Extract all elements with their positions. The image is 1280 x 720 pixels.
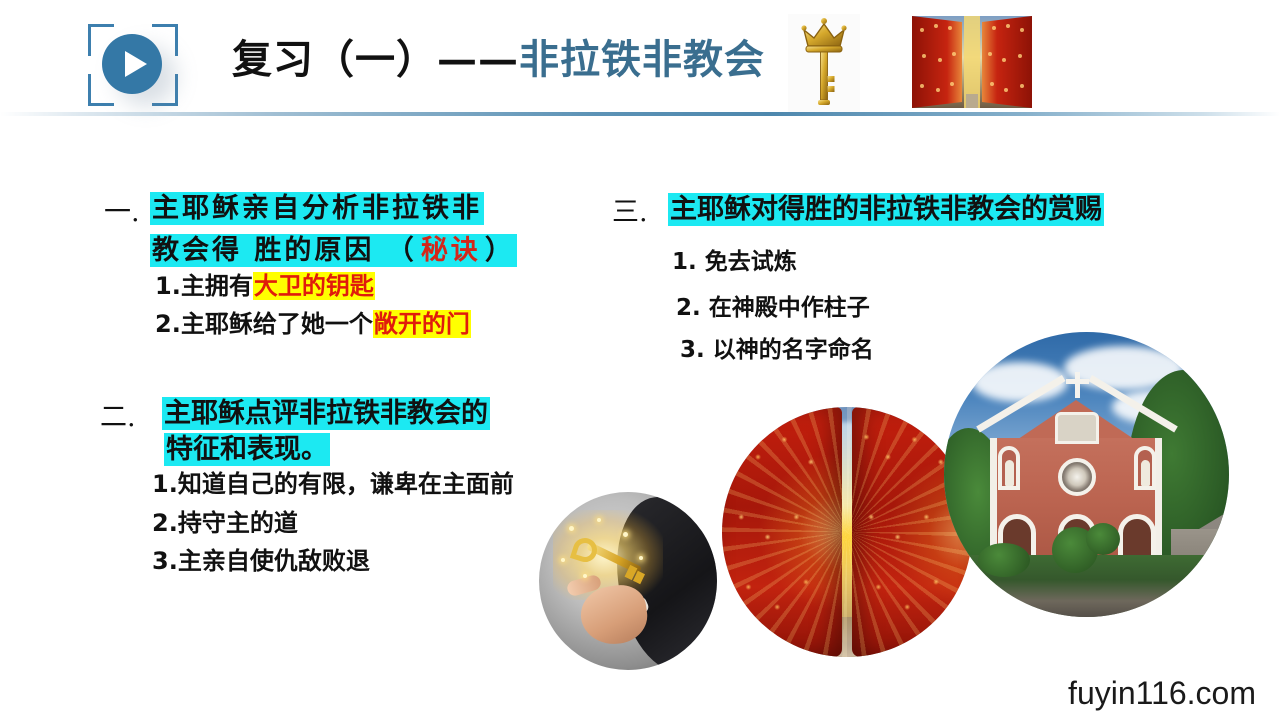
- bush-shape: [978, 543, 1030, 577]
- section-2-item-1-number: 1.: [152, 470, 178, 498]
- sparkle-icon: [569, 526, 574, 531]
- statue-niche-left: [998, 446, 1020, 490]
- logo-frame: [88, 24, 178, 106]
- hand-holding-golden-key-photo: [539, 492, 717, 670]
- section-2-item-1-text: 知道自己的有限，谦卑在主面前: [178, 470, 514, 498]
- frame-edge-left-lower: [88, 74, 91, 88]
- page-title-main: 复习（一）——: [232, 36, 519, 83]
- slide-canvas: 复习（一）——非拉铁非教会: [0, 0, 1280, 720]
- section-1-item-1-text: 主拥有: [181, 272, 253, 300]
- sparkle-icon: [561, 558, 565, 562]
- section-3-item-2: 2. 在神殿中作柱子: [676, 288, 870, 322]
- section-1-item-1-highlight: 大卫的钥匙: [253, 272, 375, 300]
- brick-church-building-photo: [944, 332, 1229, 617]
- page-title: 复习（一）——非拉铁非教会: [232, 38, 765, 82]
- section-3-item-1-text: 免去试炼: [705, 249, 797, 275]
- slide-header: 复习（一）——非拉铁非教会: [0, 0, 1280, 118]
- site-watermark: fuyin116.com: [1068, 675, 1256, 712]
- section-2-item-2-number: 2.: [152, 509, 178, 537]
- section-3-item-3: 3. 以神的名字命名: [680, 330, 874, 364]
- section-1-item-1-number: 1.: [155, 272, 181, 300]
- statue-shape: [1141, 460, 1150, 486]
- frame-edge-left-upper: [88, 42, 91, 56]
- section-2-number: 二.: [100, 395, 136, 434]
- light-rays-overlay: [722, 407, 972, 657]
- section-1-heading-line2: 教会得 胜的原因 （秘诀）: [150, 228, 517, 267]
- section-2-heading-text1: 主耶稣点评非拉铁非教会的: [162, 397, 490, 430]
- section-2-heading-line2: 特征和表现。: [164, 427, 330, 466]
- bush-shape: [1086, 523, 1120, 555]
- frame-corner-bottom-left: [88, 84, 114, 106]
- section-1-heading-text1: 主耶稣亲自分析非拉铁非: [150, 192, 484, 225]
- section-3-heading-line1: 主耶稣对得胜的非拉铁非教会的赏赐: [668, 187, 1104, 226]
- section-1-item-2: 2.主耶稣给了她一个敞开的门: [155, 304, 471, 339]
- section-1-heading-secret: 秘诀: [419, 234, 483, 267]
- sparkle-icon: [583, 574, 587, 578]
- rose-window-shape: [1058, 458, 1096, 496]
- side-building-roof-shape: [1199, 511, 1229, 529]
- section-2-item-1: 1.知道自己的有限，谦卑在主面前: [152, 464, 514, 499]
- section-3-item-2-text: 在神殿中作柱子: [709, 295, 870, 321]
- section-3-item-1-number: 1.: [672, 249, 697, 275]
- section-2-heading-text2: 特征和表现。: [164, 433, 330, 466]
- section-3-heading-text1: 主耶稣对得胜的非拉铁非教会的赏赐: [668, 193, 1104, 226]
- section-2-item-3-number: 3.: [152, 547, 178, 575]
- section-1-heading-text2a: 教会得 胜的原因 （: [150, 234, 419, 267]
- section-1-item-2-number: 2.: [155, 310, 181, 338]
- section-3-item-1: 1. 免去试炼: [672, 242, 797, 276]
- section-1-heading-line1: 主耶稣亲自分析非拉铁非: [150, 186, 484, 225]
- frame-edge-right-upper: [175, 42, 178, 56]
- section-1-item-1: 1.主拥有大卫的钥匙: [155, 266, 375, 301]
- section-3-number: 三.: [612, 190, 648, 229]
- sparkle-icon: [623, 532, 628, 537]
- section-1-number: 一.: [104, 190, 140, 229]
- sparkle-icon: [639, 556, 643, 560]
- section-3-item-3-number: 3.: [680, 337, 705, 363]
- section-2-item-2-text: 持守主的道: [178, 509, 298, 537]
- page-title-emphasis: 非拉铁非教会: [519, 36, 765, 83]
- section-2-item-3: 3.主亲自使仇敌败退: [152, 541, 370, 576]
- belfry-window-shape: [1055, 412, 1099, 444]
- section-1-item-2-highlight: 敞开的门: [373, 310, 471, 338]
- red-door-thumbnail: [912, 16, 1032, 108]
- cross-icon: [1075, 372, 1080, 398]
- section-2-heading-line1: 主耶稣点评非拉铁非教会的: [162, 391, 490, 430]
- section-2-item-2: 2.持守主的道: [152, 503, 298, 538]
- play-button-icon[interactable]: [102, 34, 162, 94]
- frame-edge-right-lower: [175, 74, 178, 88]
- section-1-item-2-text: 主耶稣给了她一个: [181, 310, 373, 338]
- header-divider: [0, 112, 1280, 116]
- section-3-item-2-number: 2.: [676, 295, 701, 321]
- red-open-doors-with-light-photo: [722, 407, 972, 657]
- section-1-heading-text2b: ）: [483, 234, 517, 267]
- crown-key-icon: [788, 14, 860, 112]
- statue-shape: [1005, 460, 1014, 486]
- section-3-item-3-text: 以神的名字命名: [713, 337, 874, 363]
- section-2-item-3-text: 主亲自使仇敌败退: [178, 547, 370, 575]
- statue-niche-right: [1134, 446, 1156, 490]
- sparkle-icon: [597, 518, 601, 522]
